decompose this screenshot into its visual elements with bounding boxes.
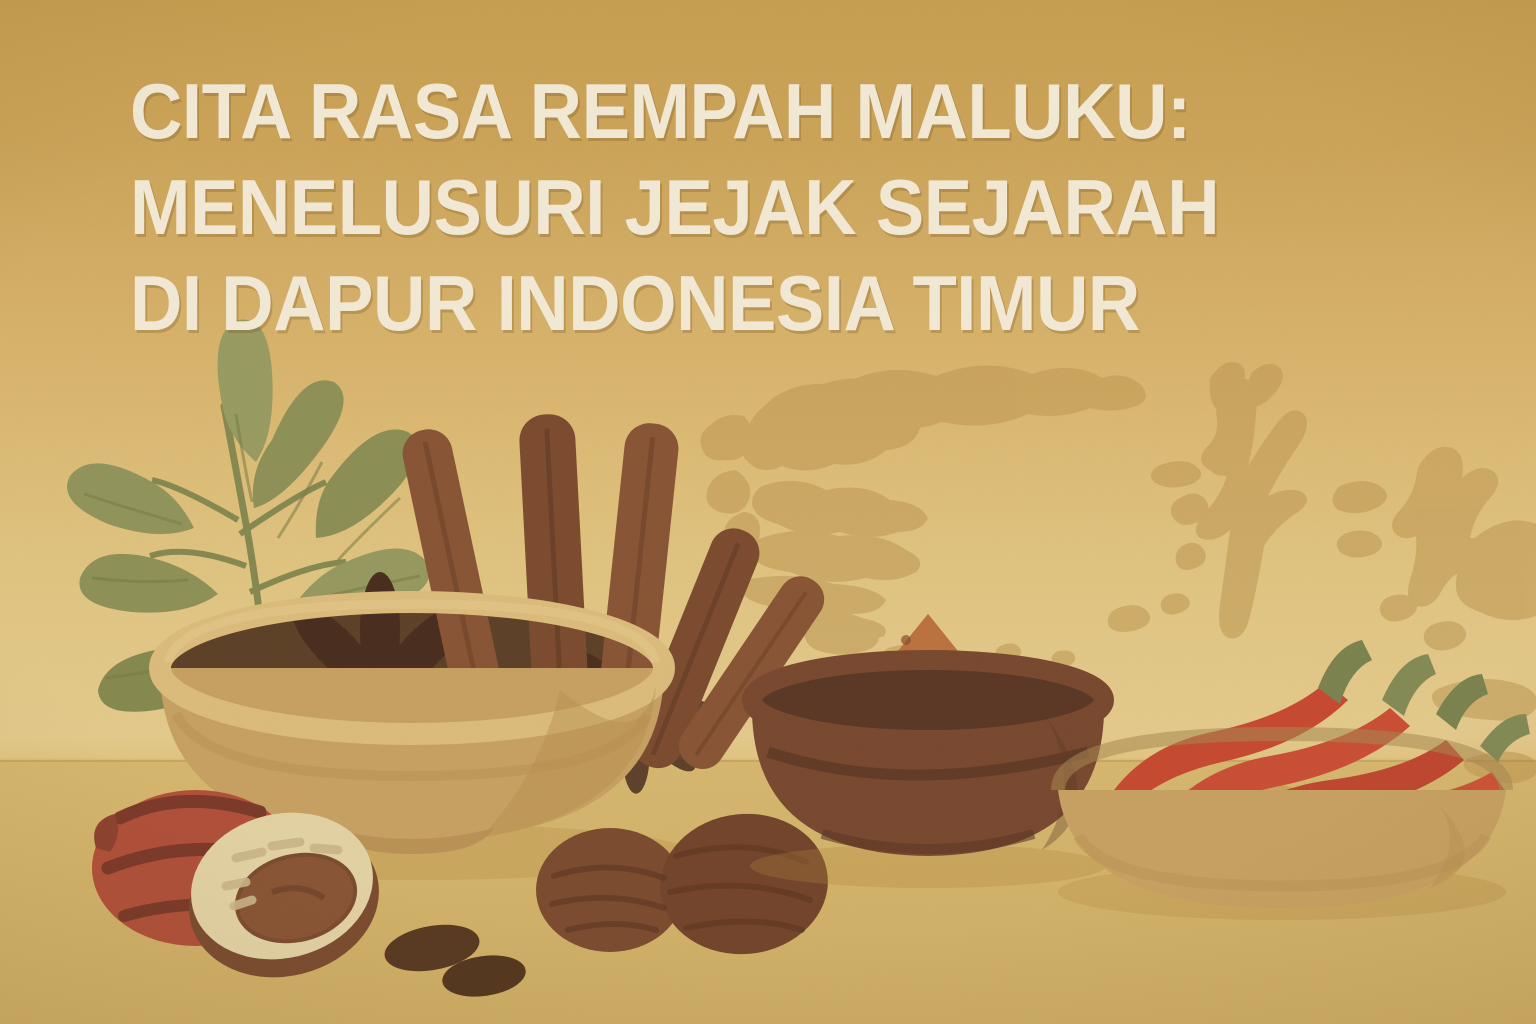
clove-seeds-icon [381, 918, 528, 1002]
nutmeg-seeds-pair-icon [536, 806, 835, 963]
title-line-1: CITA RASA REMPAH MALUKU: [130, 63, 1317, 159]
wooden-bowl-chili-icon [1058, 640, 1530, 920]
spice-poster: CITA RASA REMPAH MALUKU: MENELUSURI JEJA… [0, 0, 1536, 1024]
title-line-3: DI DAPUR INDONESIA TIMUR [130, 255, 1317, 351]
title-line-2: MENELUSURI JEJAK SEJARAH [130, 159, 1317, 255]
page-title: CITA RASA REMPAH MALUKU: MENELUSURI JEJA… [0, 63, 1536, 351]
